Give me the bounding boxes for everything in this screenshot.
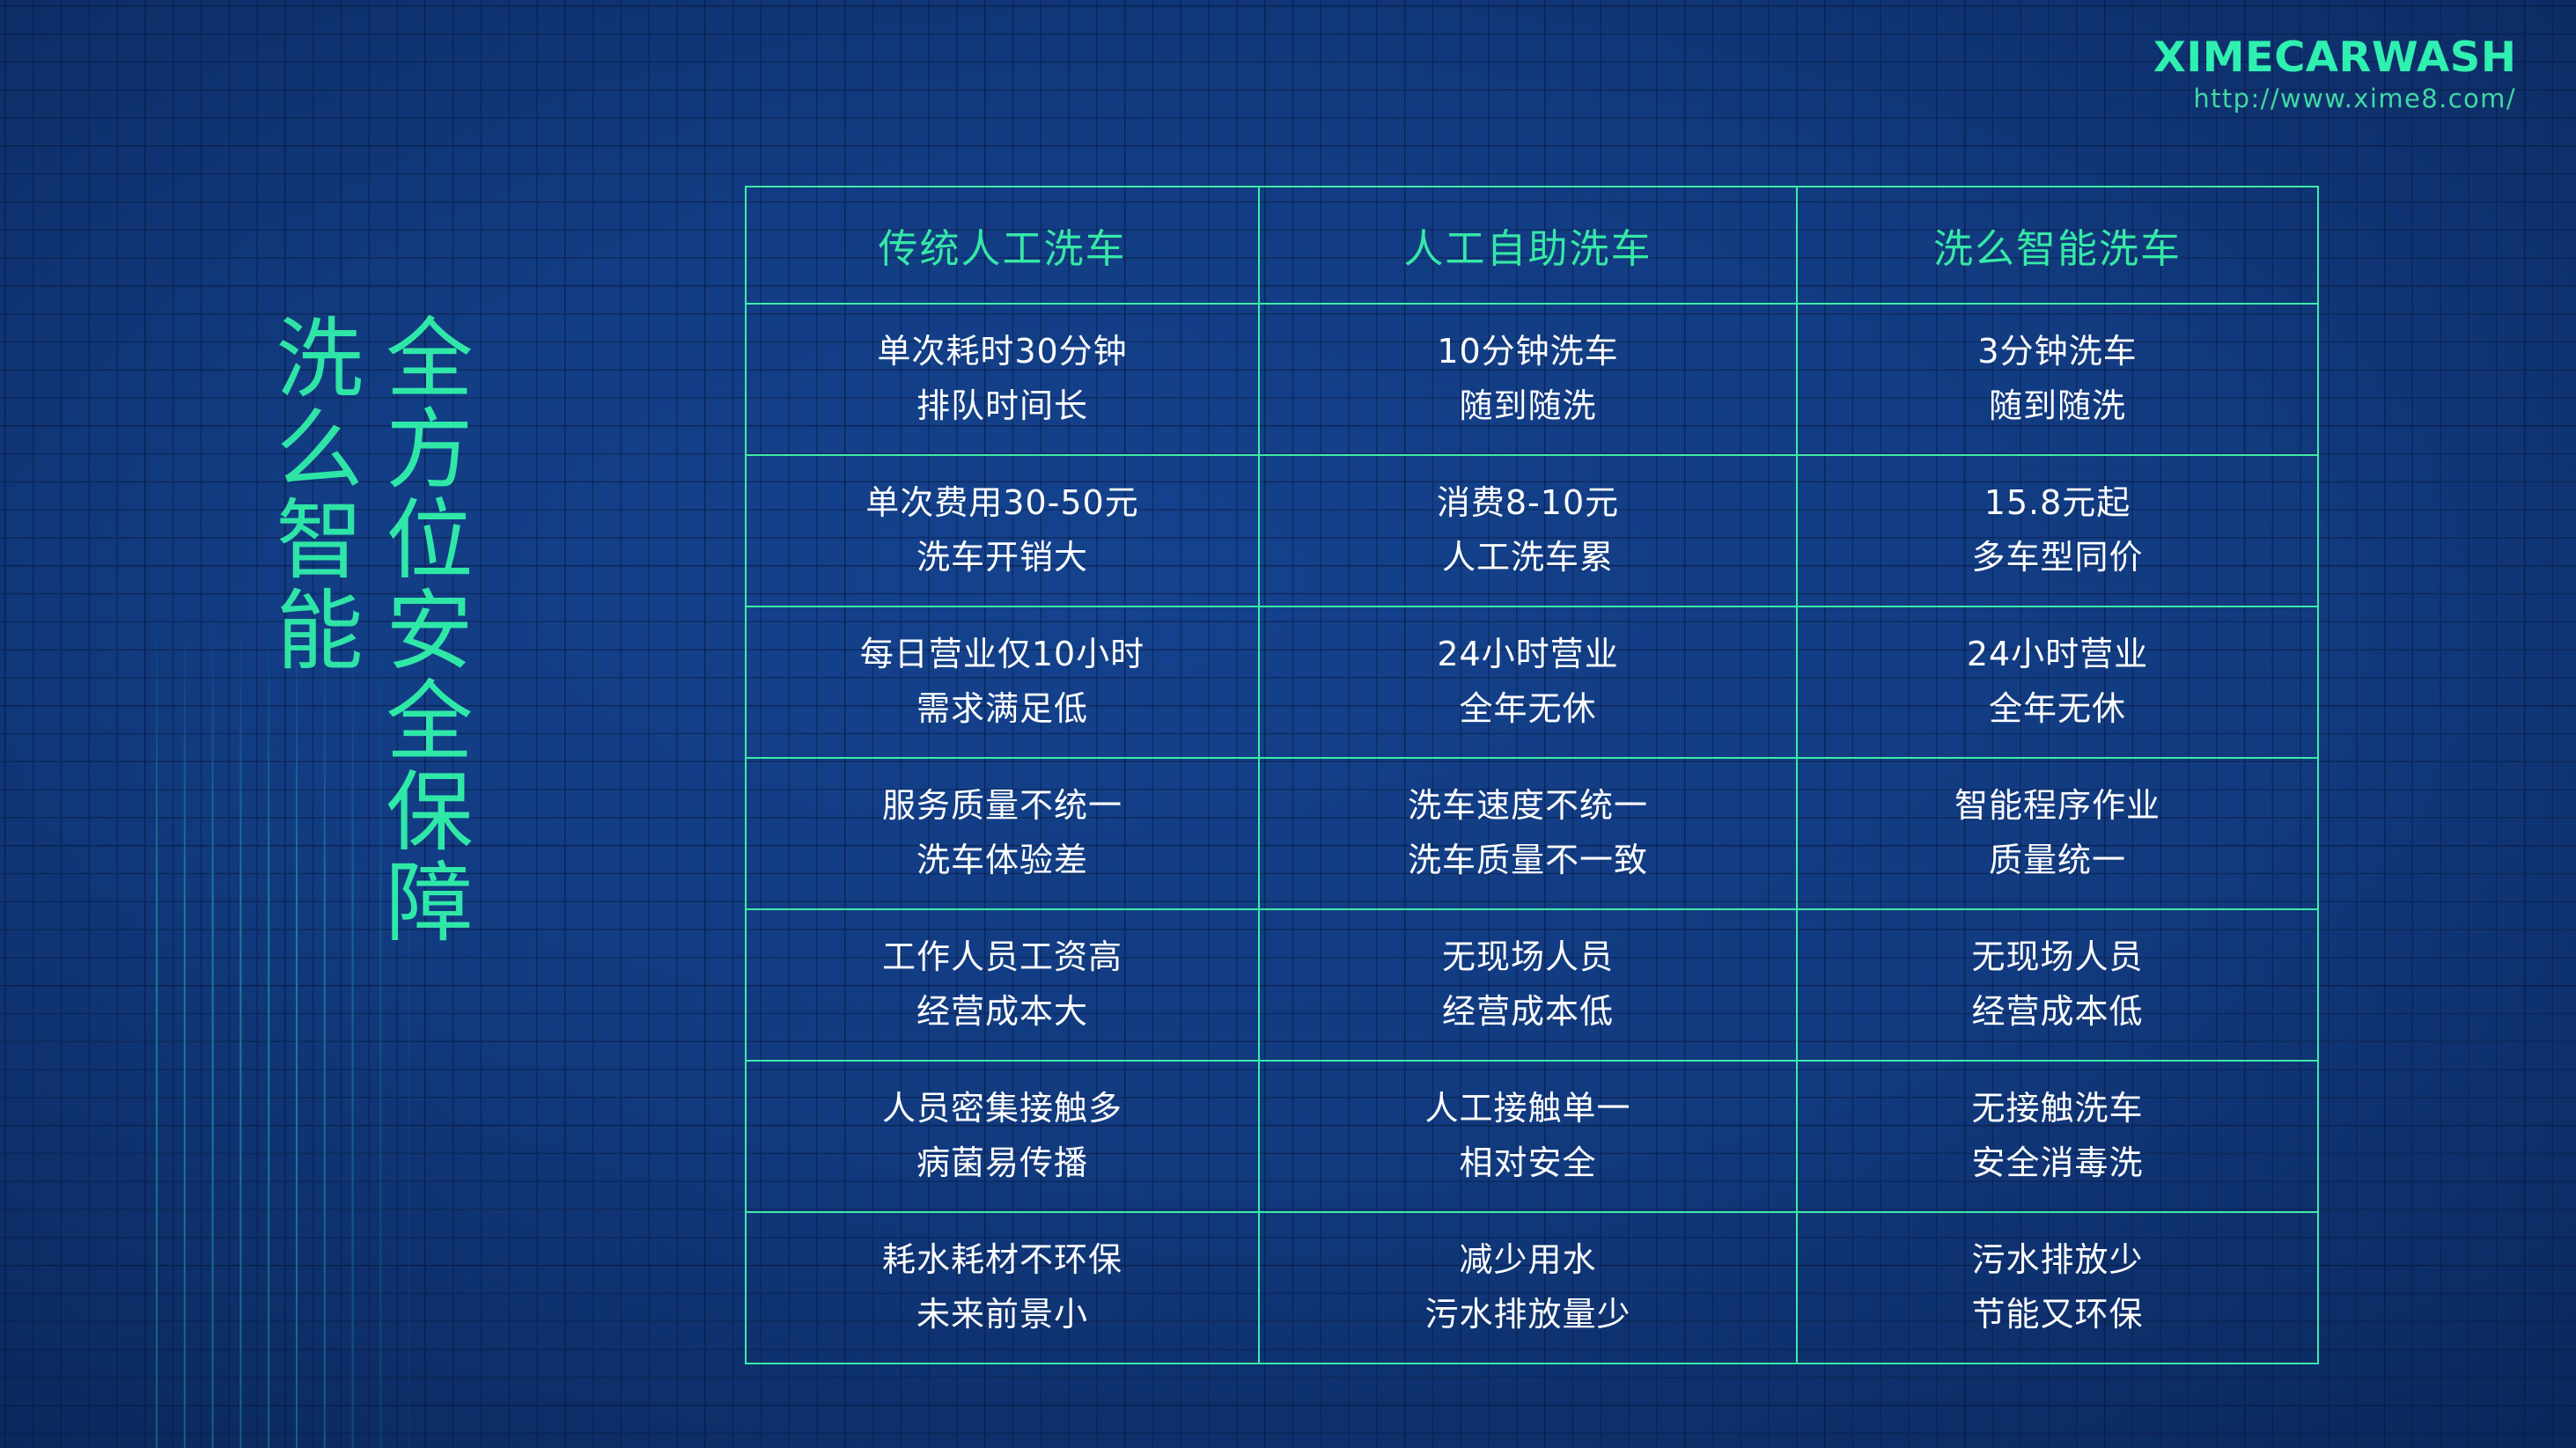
- table-row: 单次费用30-50元 洗车开销大 消费8-10元 人工洗车累 15.8元起 多车…: [746, 455, 2318, 606]
- table-cell: 无现场人员 经营成本低: [1797, 909, 2318, 1061]
- table-cell: 3分钟洗车 随到随洗: [1797, 304, 2318, 455]
- cell-line-2: 全年无休: [1260, 682, 1796, 737]
- table-cell: 减少用水 污水排放量少: [1259, 1212, 1797, 1363]
- cell-line-2: 全年无休: [1798, 682, 2317, 737]
- slide-canvas: XIMECARWASH http://www.xime8.com/ 全方位安全保…: [0, 0, 2576, 1448]
- cell-line-1: 10分钟洗车: [1260, 325, 1796, 379]
- table-cell: 24小时营业 全年无休: [1259, 606, 1797, 758]
- cell-line-1: 智能程序作业: [1798, 779, 2317, 834]
- headline-primary: 全方位安全保障: [374, 312, 467, 947]
- table-cell: 无接触洗车 安全消毒洗: [1797, 1061, 2318, 1212]
- cell-line-2: 经营成本低: [1798, 985, 2317, 1040]
- cell-line-2: 洗车质量不一致: [1260, 834, 1796, 888]
- cell-line-1: 每日营业仅10小时: [747, 628, 1258, 682]
- table-cell: 消费8-10元 人工洗车累: [1259, 455, 1797, 606]
- headline: 全方位安全保障 洗么智能: [264, 312, 467, 947]
- table-header: 传统人工洗车 人工自助洗车 洗么智能洗车: [746, 187, 2318, 304]
- table-cell: 人员密集接触多 病菌易传播: [746, 1061, 1259, 1212]
- cell-line-2: 节能又环保: [1798, 1288, 2317, 1342]
- table-cell: 智能程序作业 质量统一: [1797, 758, 2318, 909]
- cell-line-1: 消费8-10元: [1260, 476, 1796, 531]
- table-row: 耗水耗材不环保 未来前景小 减少用水 污水排放量少 污水排放少 节能又环保: [746, 1212, 2318, 1363]
- headline-secondary: 洗么智能: [264, 312, 357, 675]
- table-body: 单次耗时30分钟 排队时间长 10分钟洗车 随到随洗 3分钟洗车 随到随洗 单次…: [746, 304, 2318, 1363]
- table-row: 每日营业仅10小时 需求满足低 24小时营业 全年无休 24小时营业 全年无休: [746, 606, 2318, 758]
- cell-line-2: 洗车体验差: [747, 834, 1258, 888]
- table-cell: 人工接触单一 相对安全: [1259, 1061, 1797, 1212]
- cell-line-2: 洗车开销大: [747, 531, 1258, 585]
- column-header-traditional: 传统人工洗车: [746, 187, 1259, 304]
- table-cell: 洗车速度不统一 洗车质量不一致: [1259, 758, 1797, 909]
- cell-line-2: 经营成本低: [1260, 985, 1796, 1040]
- cell-line-1: 单次耗时30分钟: [747, 325, 1258, 379]
- table-cell: 无现场人员 经营成本低: [1259, 909, 1797, 1061]
- table-cell: 单次费用30-50元 洗车开销大: [746, 455, 1259, 606]
- cell-line-1: 3分钟洗车: [1798, 325, 2317, 379]
- brand-name: XIMECARWASH: [2153, 37, 2516, 78]
- table-header-row: 传统人工洗车 人工自助洗车 洗么智能洗车: [746, 187, 2318, 304]
- cell-line-2: 相对安全: [1260, 1136, 1796, 1191]
- cell-line-1: 工作人员工资高: [747, 930, 1258, 985]
- column-header-xime-smart: 洗么智能洗车: [1797, 187, 2318, 304]
- cell-line-2: 质量统一: [1798, 834, 2317, 888]
- table-row: 人员密集接触多 病菌易传播 人工接触单一 相对安全 无接触洗车 安全消毒洗: [746, 1061, 2318, 1212]
- cell-line-1: 无现场人员: [1798, 930, 2317, 985]
- cell-line-1: 无接触洗车: [1798, 1082, 2317, 1136]
- table-cell: 24小时营业 全年无休: [1797, 606, 2318, 758]
- table-cell: 服务质量不统一 洗车体验差: [746, 758, 1259, 909]
- cell-line-2: 经营成本大: [747, 985, 1258, 1040]
- cell-line-1: 人工接触单一: [1260, 1082, 1796, 1136]
- table-cell: 耗水耗材不环保 未来前景小: [746, 1212, 1259, 1363]
- cell-line-1: 污水排放少: [1798, 1233, 2317, 1288]
- table-cell: 10分钟洗车 随到随洗: [1259, 304, 1797, 455]
- table-row: 服务质量不统一 洗车体验差 洗车速度不统一 洗车质量不一致 智能程序作业 质量统…: [746, 758, 2318, 909]
- brand-logo: XIMECARWASH http://www.xime8.com/: [2160, 37, 2516, 112]
- column-header-selfservice: 人工自助洗车: [1259, 187, 1797, 304]
- cell-line-2: 污水排放量少: [1260, 1288, 1796, 1342]
- cell-line-1: 无现场人员: [1260, 930, 1796, 985]
- cell-line-2: 随到随洗: [1260, 379, 1796, 434]
- cell-line-1: 人员密集接触多: [747, 1082, 1258, 1136]
- cell-line-1: 耗水耗材不环保: [747, 1233, 1258, 1288]
- table-cell: 15.8元起 多车型同价: [1797, 455, 2318, 606]
- cell-line-1: 24小时营业: [1260, 628, 1796, 682]
- cell-line-2: 未来前景小: [747, 1288, 1258, 1342]
- table-cell: 污水排放少 节能又环保: [1797, 1212, 2318, 1363]
- cell-line-1: 单次费用30-50元: [747, 476, 1258, 531]
- cell-line-2: 需求满足低: [747, 682, 1258, 737]
- cell-line-2: 病菌易传播: [747, 1136, 1258, 1191]
- comparison-table: 传统人工洗车 人工自助洗车 洗么智能洗车 单次耗时30分钟 排队时间长 10分钟…: [745, 186, 2319, 1364]
- cell-line-2: 随到随洗: [1798, 379, 2317, 434]
- table-cell: 单次耗时30分钟 排队时间长: [746, 304, 1259, 455]
- table-cell: 每日营业仅10小时 需求满足低: [746, 606, 1259, 758]
- cell-line-1: 服务质量不统一: [747, 779, 1258, 834]
- cell-line-2: 多车型同价: [1798, 531, 2317, 585]
- brand-url: http://www.xime8.com/: [2160, 86, 2516, 112]
- cell-line-1: 15.8元起: [1798, 476, 2317, 531]
- cell-line-2: 人工洗车累: [1260, 531, 1796, 585]
- table-row: 工作人员工资高 经营成本大 无现场人员 经营成本低 无现场人员 经营成本低: [746, 909, 2318, 1061]
- cell-line-2: 安全消毒洗: [1798, 1136, 2317, 1191]
- cell-line-1: 减少用水: [1260, 1233, 1796, 1288]
- cell-line-1: 洗车速度不统一: [1260, 779, 1796, 834]
- table-cell: 工作人员工资高 经营成本大: [746, 909, 1259, 1061]
- cell-line-2: 排队时间长: [747, 379, 1258, 434]
- table-row: 单次耗时30分钟 排队时间长 10分钟洗车 随到随洗 3分钟洗车 随到随洗: [746, 304, 2318, 455]
- cell-line-1: 24小时营业: [1798, 628, 2317, 682]
